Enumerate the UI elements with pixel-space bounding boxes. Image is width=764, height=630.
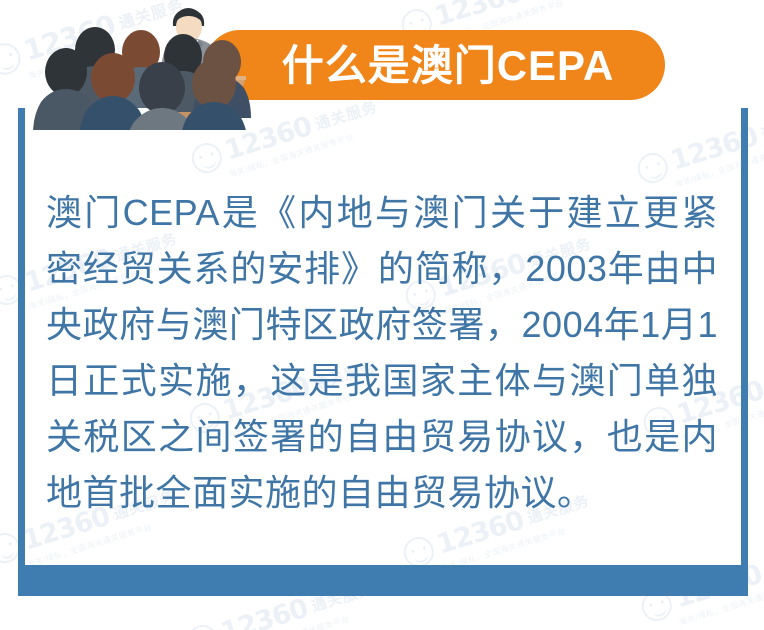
right-border <box>741 108 748 570</box>
bottom-border <box>18 565 748 596</box>
left-border <box>18 108 25 570</box>
smiley-logo-icon <box>184 621 221 630</box>
smiley-logo-icon <box>188 139 225 176</box>
page-title: 什么是澳门CEPA <box>243 38 653 94</box>
watermark-number: 12360 <box>217 593 311 630</box>
watermark-brand: 通关服务 <box>759 106 764 145</box>
infographic-page: 12360 通关服务 海关/缉私，全国海关通关服务平台 12360 通关服务 海… <box>0 0 764 630</box>
watermark-subtitle: 海关/缉私，全国海关通关服务平台 <box>193 604 381 630</box>
smiley-logo-icon <box>634 149 671 186</box>
body-paragraph: 澳门CEPA是《内地与澳门关于建立更紧密经贸关系的安排》的简称，2003年由中央… <box>46 185 718 521</box>
watermark-subtitle: 海关/缉私，全国海关通关服务平台 <box>197 122 385 189</box>
